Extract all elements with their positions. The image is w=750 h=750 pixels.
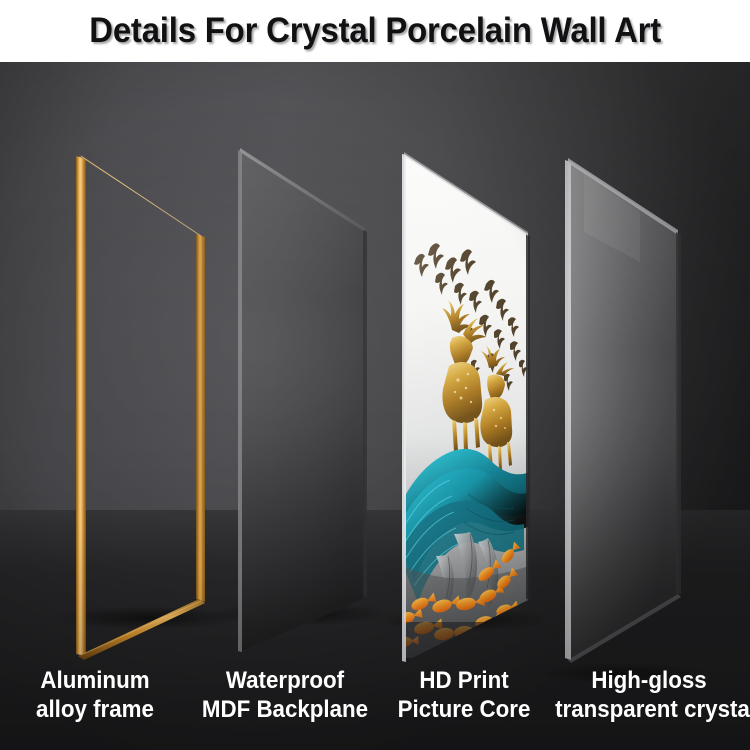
caption-line1: HD Print [419,667,508,694]
caption-crystal-panel: High-gloss transparent crystal [555,666,743,750]
caption-line1: High-gloss [591,667,706,694]
product-detail-image: Details For Crystal Porcelain Wall Art [0,0,750,750]
scene-vignette [0,62,750,750]
page-title: Details For Crystal Porcelain Wall Art [89,11,661,51]
caption-line2: alloy frame [7,695,184,724]
caption-aluminum-frame: Aluminum alloy frame [7,666,184,750]
product-scene [0,62,750,750]
caption-line2: Picture Core [386,695,542,724]
caption-mdf-backplane: Waterproof MDF Backplane [197,666,374,750]
caption-line2: MDF Backplane [197,695,374,724]
caption-row: Aluminum alloy frame Waterproof MDF Back… [0,666,750,750]
caption-hd-print-core: HD Print Picture Core [386,666,542,750]
caption-line1: Waterproof [226,667,344,694]
title-bar: Details For Crystal Porcelain Wall Art [0,0,750,62]
caption-line2: transparent crystal [555,695,743,724]
caption-line1: Aluminum [40,667,149,694]
